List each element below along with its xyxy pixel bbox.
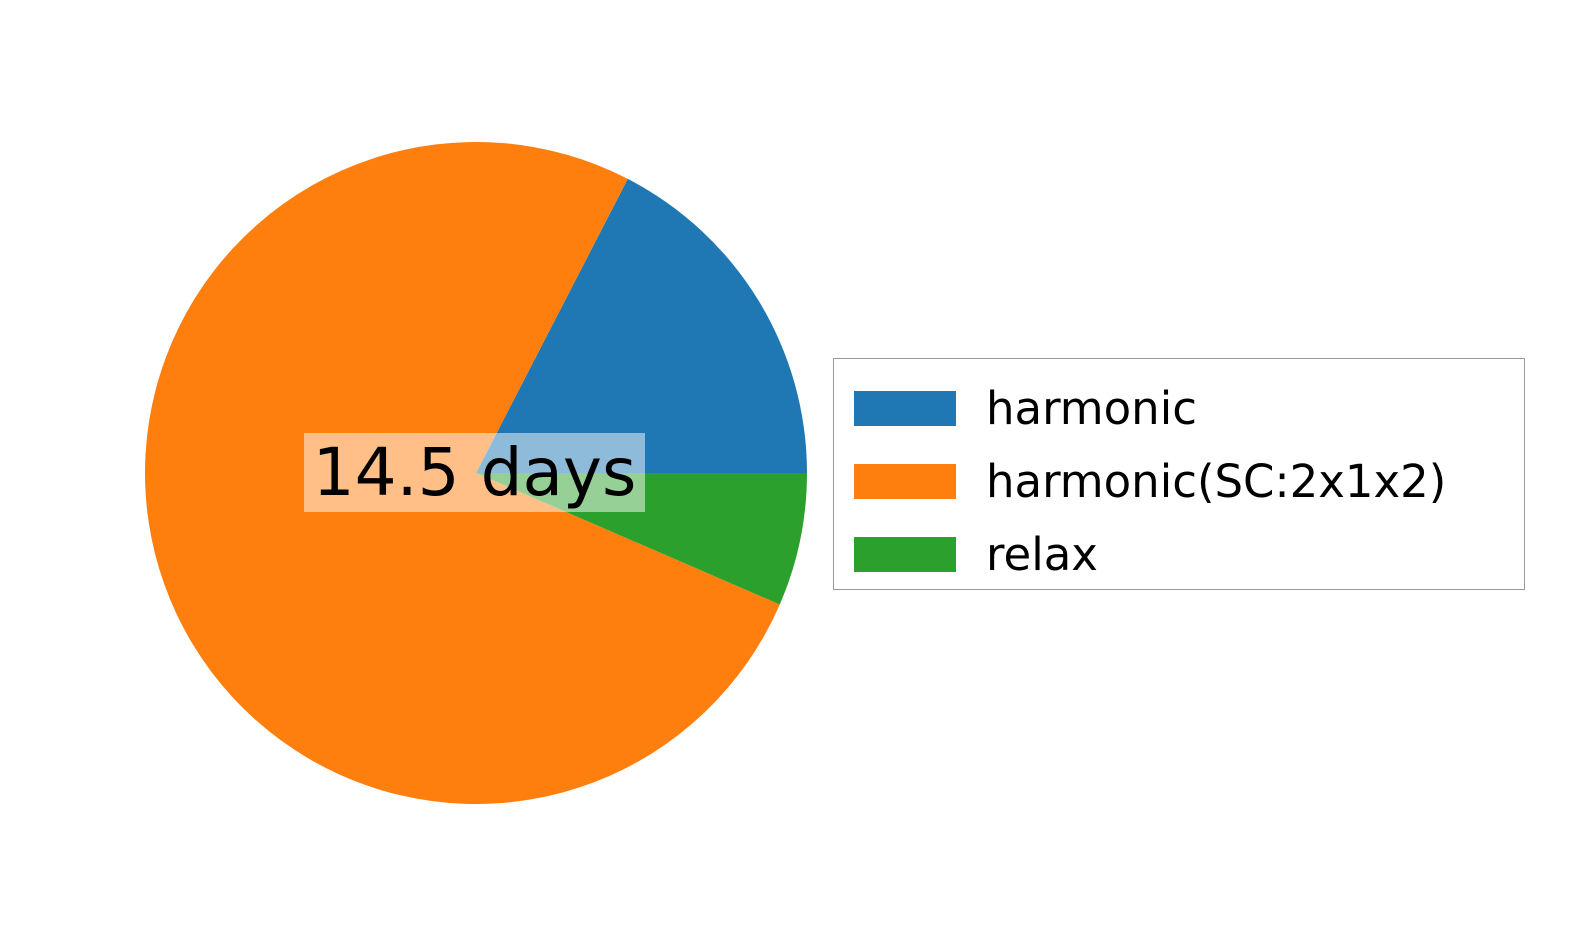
legend-swatch-relax (854, 537, 956, 572)
pie-chart-figure: 14.5 days harmonicharmonic(SC:2x1x2)rela… (0, 0, 1584, 951)
legend-label-harmonic: harmonic (986, 386, 1197, 431)
legend-item-relax: relax (854, 518, 1446, 591)
legend-label-relax: relax (986, 532, 1098, 577)
center-value-label: 14.5 days (304, 433, 645, 512)
legend-swatch-harmonic-sc-2x1x2 (854, 464, 956, 499)
legend-item-harmonic-sc-2x1x2: harmonic(SC:2x1x2) (854, 445, 1446, 518)
legend-item-harmonic: harmonic (854, 372, 1446, 445)
legend-label-harmonic-sc-2x1x2: harmonic(SC:2x1x2) (986, 459, 1446, 504)
legend-entries: harmonicharmonic(SC:2x1x2)relax (854, 372, 1446, 591)
center-value-text: 14.5 days (313, 440, 637, 506)
legend-box: harmonicharmonic(SC:2x1x2)relax (833, 358, 1525, 590)
legend-swatch-harmonic (854, 391, 956, 426)
